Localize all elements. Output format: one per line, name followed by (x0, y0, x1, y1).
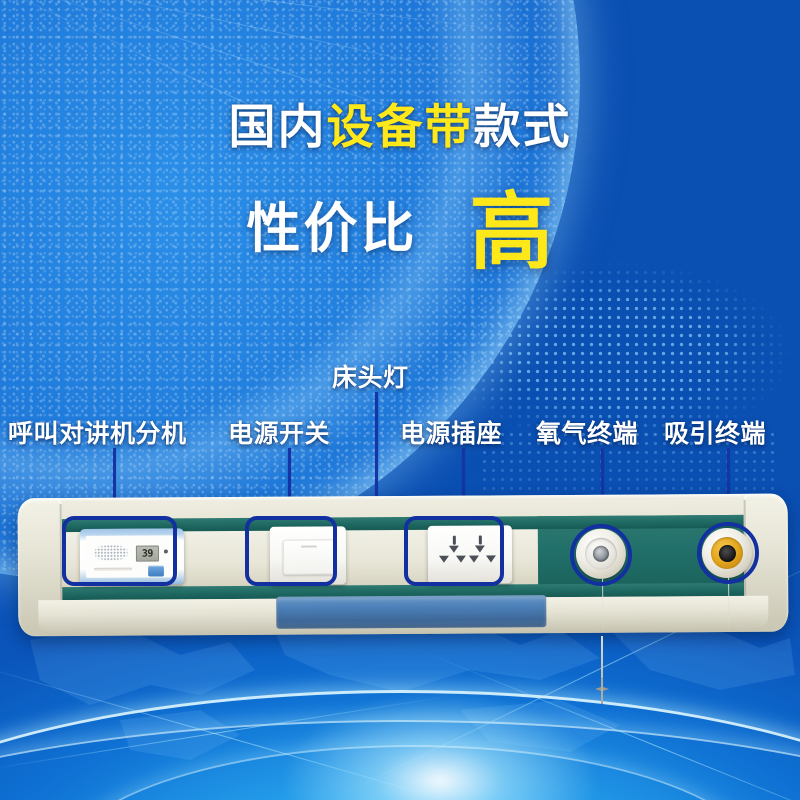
oxygen-terminal-port-icon (593, 546, 609, 562)
power-switch-unit[interactable] (270, 526, 346, 584)
intercom-slot (94, 568, 132, 571)
headline-line1-part1: 国内 (229, 100, 327, 153)
socket-pin-icon (439, 556, 449, 563)
headline-line2-text: 性价比 (246, 199, 417, 259)
socket-pin-icon (456, 556, 466, 563)
suction-terminal-inner-ring (711, 537, 743, 569)
power-socket-unit[interactable] (428, 525, 512, 584)
headline-line1-highlight: 设备带 (327, 100, 474, 153)
suction-terminal-port-icon (718, 544, 735, 561)
suction-terminal-unit[interactable] (702, 528, 752, 578)
socket-pin-icon (479, 536, 482, 545)
intercom-unit[interactable]: 39 (80, 528, 184, 585)
callout-label-oxygen-terminal: 氧气终端 (536, 414, 638, 450)
bed-head-unit-body: 39 (18, 494, 789, 637)
intercom-faceplate: 39 (86, 535, 178, 578)
banner-stage: 国内设备带款式 性价比高 呼叫对讲机分机电源开关床头灯电源插座氧气终端吸引终端 … (0, 0, 800, 800)
speaker-grille-icon (94, 545, 128, 561)
light-ray (0, 0, 566, 94)
callout-label-bed-lamp: 床头灯 (332, 358, 409, 394)
headline-line-2: 性价比高 (0, 165, 800, 286)
intercom-call-button[interactable] (148, 565, 164, 576)
socket-pin-icon (453, 536, 456, 545)
callout-label-power-socket: 电源插座 (400, 414, 502, 450)
oxygen-terminal-unit[interactable] (576, 529, 626, 579)
led-indicator-icon (164, 549, 168, 553)
headline-line1-part2: 款式 (474, 100, 572, 153)
headline-line-1: 国内设备带款式 (0, 88, 800, 157)
intercom-display: 39 (136, 545, 159, 561)
callout-label-intercom: 呼叫对讲机分机 (8, 414, 187, 450)
socket-pin-icon (475, 545, 485, 552)
headline-line2-emphasis: 高 (469, 185, 553, 279)
callout-label-suction-terminal: 吸引终端 (664, 414, 766, 450)
socket-pin-icon (469, 556, 479, 563)
bed-head-unit: 39 (18, 496, 788, 634)
socket-faceplate (439, 533, 501, 575)
suction-probe-cord (601, 636, 603, 684)
socket-pin-icon (486, 555, 496, 562)
bed-lamp-strip[interactable] (276, 595, 546, 629)
socket-pin-icon (449, 546, 459, 553)
callout-label-power-switch: 电源开关 (228, 414, 330, 450)
oxygen-terminal-inner-ring (585, 538, 617, 570)
rocker-switch-icon[interactable] (283, 539, 335, 574)
suction-probe-head-icon (588, 678, 616, 704)
